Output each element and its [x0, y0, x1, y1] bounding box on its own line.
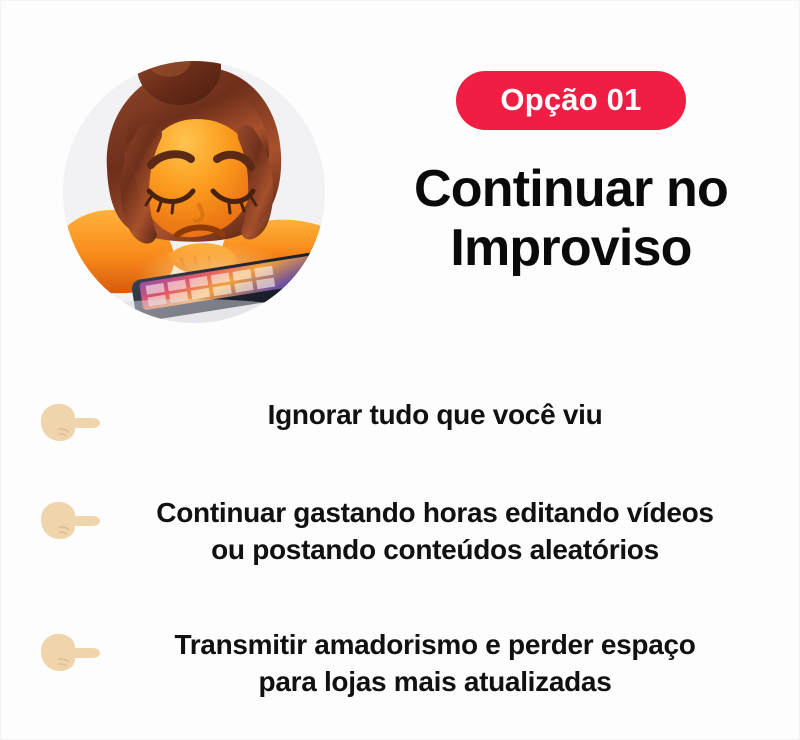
list-item-line: Continuar gastando horas editando vídeos: [103, 495, 767, 532]
hero-text-column: Opção 01 Continuar no Improviso: [341, 1, 800, 361]
page-title: Continuar no Improviso: [356, 160, 786, 279]
hero-section: Opção 01 Continuar no Improviso: [1, 1, 800, 361]
list-item-line: Transmitir amadorismo e perder espaço: [103, 627, 767, 664]
bullet-list: Ignorar tudo que você viu Continuar gast…: [1, 379, 800, 701]
list-item: Continuar gastando horas editando vídeos…: [1, 495, 800, 569]
list-item-line: Ignorar tudo que você viu: [103, 397, 767, 434]
page-title-line-2: Improviso: [356, 219, 786, 278]
option-badge: Opção 01: [456, 71, 685, 130]
page-title-line-1: Continuar no: [356, 160, 786, 219]
list-item: Transmitir amadorismo e perder espaço pa…: [1, 627, 800, 701]
hero-illustration: [41, 19, 341, 344]
tired-woman-with-phone-3d-emoji: [41, 19, 341, 344]
list-item-text: Transmitir amadorismo e perder espaço pa…: [103, 627, 800, 701]
list-item-text: Ignorar tudo que você viu: [103, 397, 800, 434]
pointing-right-hand-icon: [35, 497, 103, 541]
list-item-text: Continuar gastando horas editando vídeos…: [103, 495, 800, 569]
list-item: Ignorar tudo que você viu: [1, 397, 800, 443]
list-item-line: ou postando conteúdos aleatórios: [103, 532, 767, 569]
pointing-right-hand-icon: [35, 629, 103, 673]
pointing-right-hand-icon: [35, 399, 103, 443]
list-item-line: para lojas mais atualizadas: [103, 664, 767, 701]
